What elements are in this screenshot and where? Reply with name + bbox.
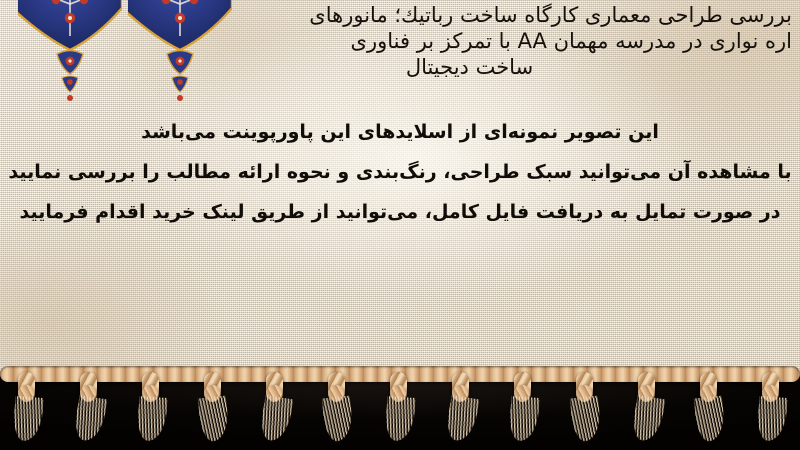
carpet-cord-band [0, 366, 800, 382]
body-line-1: این تصویر نمونه‌ای از اسلایدهای این پاور… [0, 112, 800, 152]
presentation-slide: بررسی طراحی معماری کارگاه ساخت رباتیك؛ م… [0, 0, 800, 450]
slide-body-text: این تصویر نمونه‌ای از اسلایدهای این پاور… [0, 112, 800, 232]
body-line-3: در صورت تمایل به دریافت فایل کامل، می‌تو… [0, 192, 800, 232]
slide-title: بررسی طراحی معماری کارگاه ساخت رباتیك؛ م… [217, 2, 792, 80]
slide-title-line-2: اره نواری در مدرسه مهمان AA با تمرکز بر … [217, 28, 792, 54]
slide-title-line-3: ساخت دیجیتال [217, 54, 792, 80]
footer-black-band [0, 374, 800, 450]
body-line-2: با مشاهده آن می‌توانید سبک طراحی، رنگ‌بن… [0, 152, 800, 192]
slide-title-line-1: بررسی طراحی معماری کارگاه ساخت رباتیك؛ م… [217, 2, 792, 28]
